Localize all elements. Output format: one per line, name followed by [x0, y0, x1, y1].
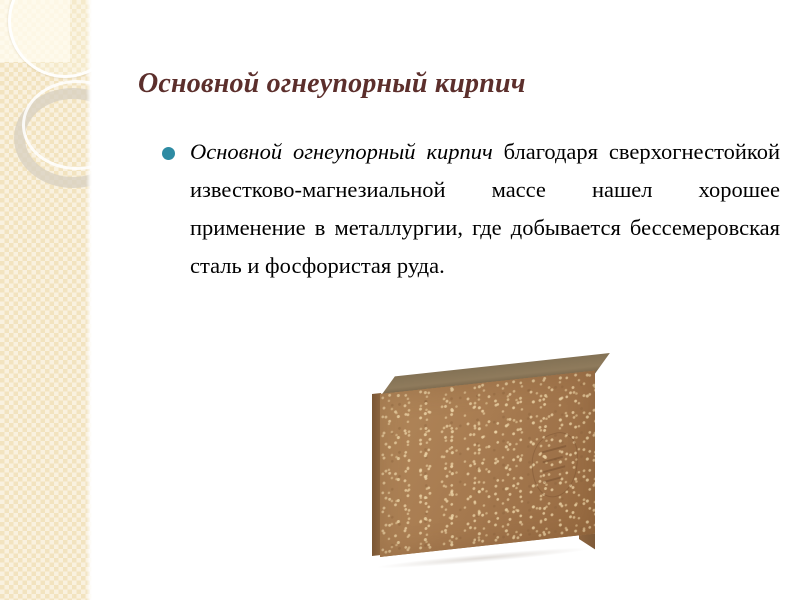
bullet-paragraph: Основной огнеупорный кирпич благодаря св…	[190, 133, 780, 285]
brick-stamp-mark	[530, 427, 579, 503]
brick-front-face	[380, 371, 595, 557]
brick-image	[326, 364, 626, 574]
bullet-dot-icon	[162, 147, 175, 160]
content-body: Основной огнеупорный кирпич благодаря св…	[160, 133, 780, 285]
decorative-band-edge	[86, 0, 92, 600]
brick-illustration	[326, 364, 626, 574]
brick-stamp-line	[543, 465, 565, 473]
slide: Основной огнеупорный кирпич Основной огн…	[0, 0, 800, 600]
page-title: Основной огнеупорный кирпич	[138, 67, 758, 101]
brick-stamp-line	[542, 445, 566, 453]
bullet-lead-emphasis: Основной огнеупорный кирпич	[190, 139, 493, 164]
decorative-side-band	[0, 0, 92, 600]
brick-stamp-line	[543, 456, 563, 463]
list-item: Основной огнеупорный кирпич благодаря св…	[160, 133, 780, 285]
brick-stamp-line	[544, 476, 561, 483]
decorative-ring-thin-icon	[8, 0, 92, 78]
